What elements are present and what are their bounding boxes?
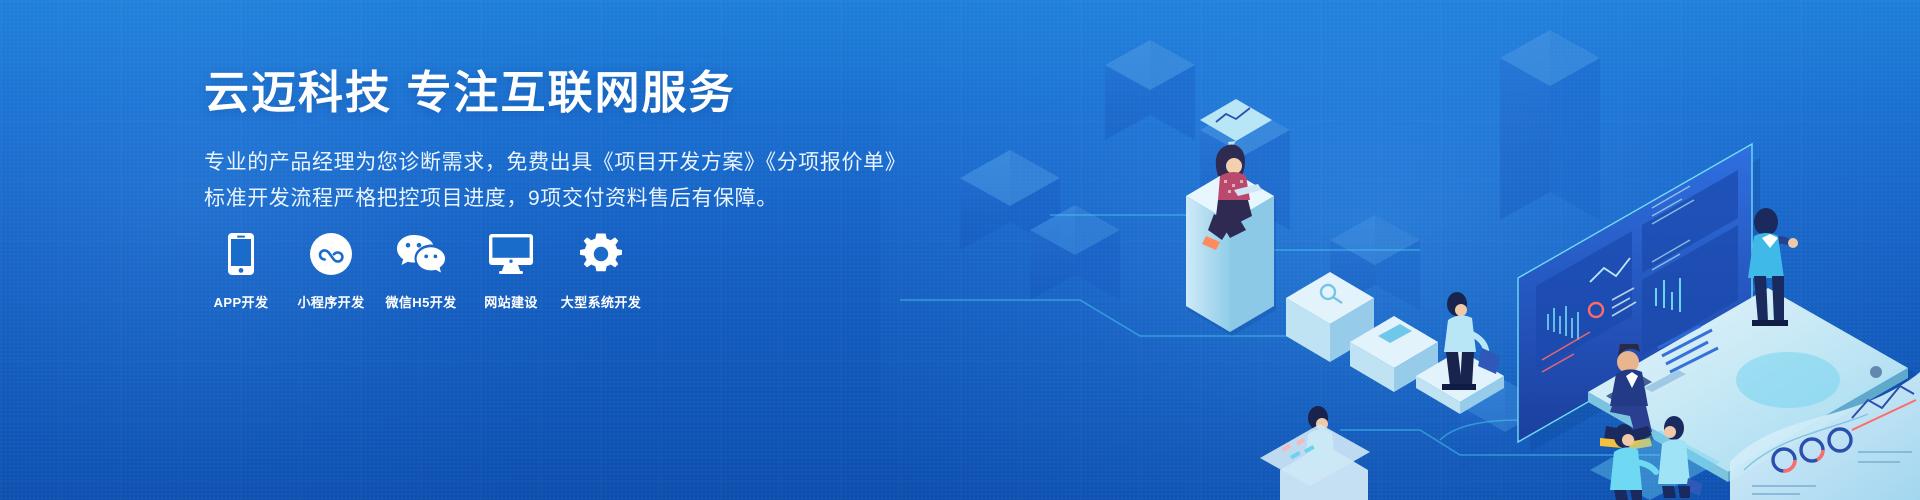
service-item-website[interactable]: 网站建设 [474, 232, 548, 311]
banner-headline: 云迈科技 专注互联网服务 [204, 66, 904, 120]
isometric-buildings [960, 30, 1760, 470]
mobile-phone-icon [228, 232, 254, 276]
service-label: APP开发 [214, 292, 269, 311]
service-item-large-system[interactable]: 大型系统开发 [564, 232, 638, 311]
service-item-wechat-h5[interactable]: 微信H5开发 [384, 232, 458, 311]
service-label: 大型系统开发 [561, 292, 641, 311]
data-chart-sheet [1730, 372, 1920, 500]
banner-copy: 云迈科技 专注互联网服务 专业的产品经理为您诊断需求，免费出具《项目开发方案》《… [204, 66, 904, 216]
mini-program-icon [310, 232, 352, 276]
two-people-talking [1590, 416, 1720, 500]
wechat-icon [396, 232, 446, 276]
service-item-app[interactable]: APP开发 [204, 232, 278, 311]
bottom-person [1280, 406, 1368, 500]
woman-on-pillar-with-laptop [1186, 99, 1276, 336]
person-with-briefcase [1442, 292, 1500, 390]
mini-chart-card [1260, 424, 1370, 486]
banner-subtitle-line-2: 标准开发流程严格把控项目进度，9项交付资料售后有保障。 [204, 182, 904, 216]
service-label: 微信H5开发 [385, 292, 456, 311]
background-glow-right [880, 0, 1920, 500]
service-label: 小程序开发 [297, 292, 364, 311]
dashboard-screen [900, 0, 1760, 452]
isometric-tech-teamwork-illustration [900, 0, 1920, 500]
step-platforms [1286, 272, 1504, 414]
seated-person-with-laptop [1600, 326, 1718, 450]
giant-smartphone-platform [1588, 288, 1920, 482]
service-label: 网站建设 [484, 292, 538, 311]
service-item-mini-program[interactable]: 小程序开发 [294, 232, 368, 311]
connector-lines [900, 215, 1660, 455]
standing-person-pointing [1748, 208, 1798, 326]
promo-banner: 云迈科技 专注互联网服务 专业的产品经理为您诊断需求，免费出具《项目开发方案》《… [0, 0, 1920, 500]
gear-icon [580, 232, 622, 276]
banner-subtitle-line-1: 专业的产品经理为您诊断需求，免费出具《项目开发方案》《分项报价单》 [204, 146, 904, 180]
service-list: APP开发 小程序开发 微信 [204, 232, 638, 311]
monitor-icon [489, 232, 533, 276]
